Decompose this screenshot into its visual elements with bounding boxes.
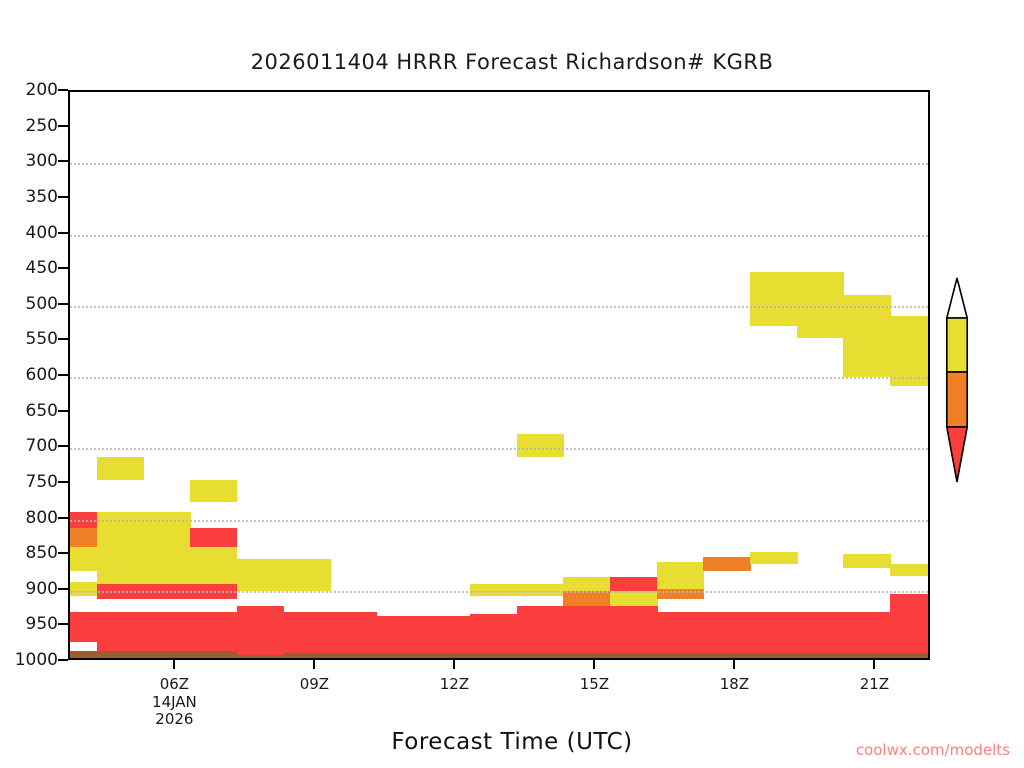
x-axis-tick-mark [593, 660, 595, 669]
colorbar-extend-bottom-arrow [947, 427, 967, 482]
x-axis-tick-mark [873, 660, 875, 669]
x-axis-tick-label: 09Z [300, 675, 329, 693]
colorbar-segment-yellow [947, 318, 967, 372]
x-axis-tick-mark [733, 660, 735, 669]
x-axis-tick-mark [173, 660, 175, 669]
colorbar: 1 0.5 0.25 [946, 296, 968, 478]
x-axis-tick-mark [453, 660, 455, 669]
x-axis-date-line: 2026 [152, 711, 197, 728]
x-axis-date-line: 14JAN [152, 694, 197, 711]
x-axis-tick-label: 06Z [160, 675, 189, 693]
x-axis-tick-label: 12Z [440, 675, 469, 693]
x-axis-tick-label: 18Z [720, 675, 749, 693]
x-axis: 06Z14JAN202609Z12Z15Z18Z21Z [0, 0, 1024, 768]
colorbar-segment-orange [947, 372, 967, 427]
x-axis-tick-label: 21Z [860, 675, 889, 693]
credit-watermark: coolwx.com/modelts [856, 741, 1010, 759]
chart-page: 2026011404 HRRR Forecast Richardson# KGR… [0, 0, 1024, 768]
x-axis-tick-label: 15Z [580, 675, 609, 693]
x-axis-date-label: 14JAN2026 [152, 694, 197, 728]
colorbar-svg [946, 296, 968, 478]
x-axis-tick-mark [313, 660, 315, 669]
